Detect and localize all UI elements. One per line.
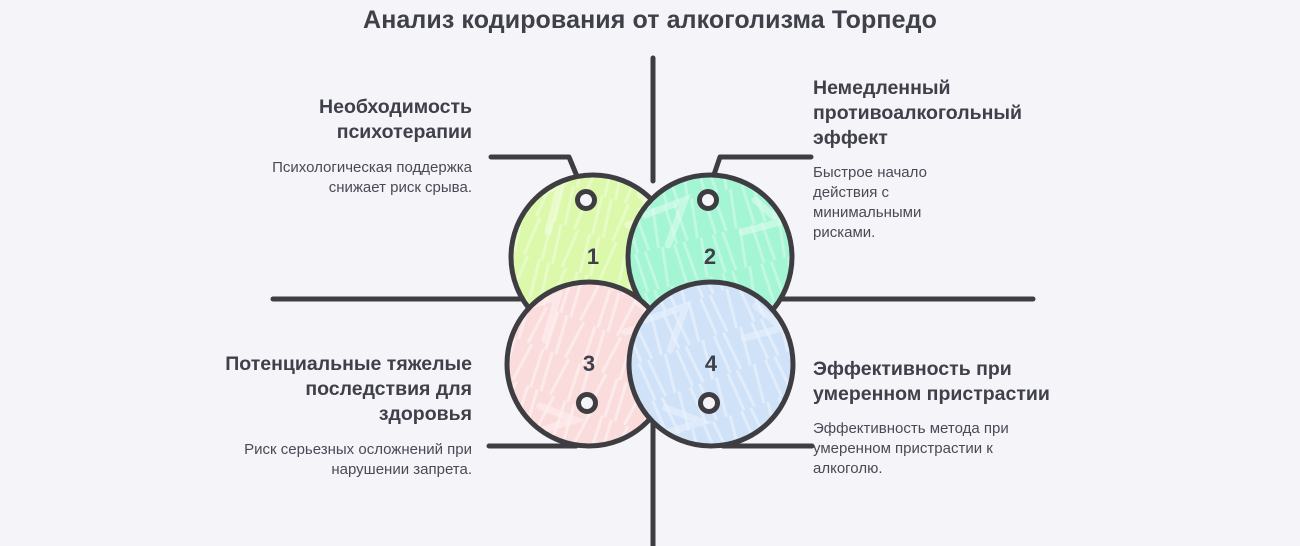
quadrant-body-1: Психологическая поддержка снижает риск с… [222,158,472,198]
connector-ring-2 [700,192,717,209]
quadrant-heading-2: Немедленный противоалкогольный эффект [813,76,1071,151]
quadrant-block-3: Потенциальные тяжелые последствия для зд… [222,352,472,480]
node-circle-4[interactable]: 4 [629,282,793,446]
node-number-2: 2 [704,244,716,269]
quadrant-block-1: Необходимость психотерапии Психологическ… [222,95,472,198]
node-number-3: 3 [583,351,595,376]
quadrant-heading-1: Необходимость психотерапии [222,95,472,145]
connector-ring-4 [701,395,718,412]
quadrant-body-3: Риск серьезных осложнений при нарушении … [222,440,472,480]
node-number-1: 1 [587,244,599,269]
quadrant-diagram: 1 2 3 4 [0,0,1300,546]
quadrant-body-2: Быстрое начало действия с минимальными р… [813,163,973,243]
quadrant-heading-3: Потенциальные тяжелые последствия для зд… [222,352,472,427]
quadrant-heading-4: Эффективность при умеренном пристрастии [813,357,1071,407]
node-number-4: 4 [705,351,718,376]
quadrant-block-4: Эффективность при умеренном пристрастии … [813,357,1071,479]
infographic-canvas: Анализ кодирования от алкоголизма Торпед… [0,0,1300,546]
quadrant-block-2: Немедленный противоалкогольный эффект Бы… [813,76,1071,243]
connector-ring-3 [579,395,596,412]
connector-ring-1 [578,192,595,209]
quadrant-body-4: Эффективность метода при умеренном прист… [813,419,1018,479]
